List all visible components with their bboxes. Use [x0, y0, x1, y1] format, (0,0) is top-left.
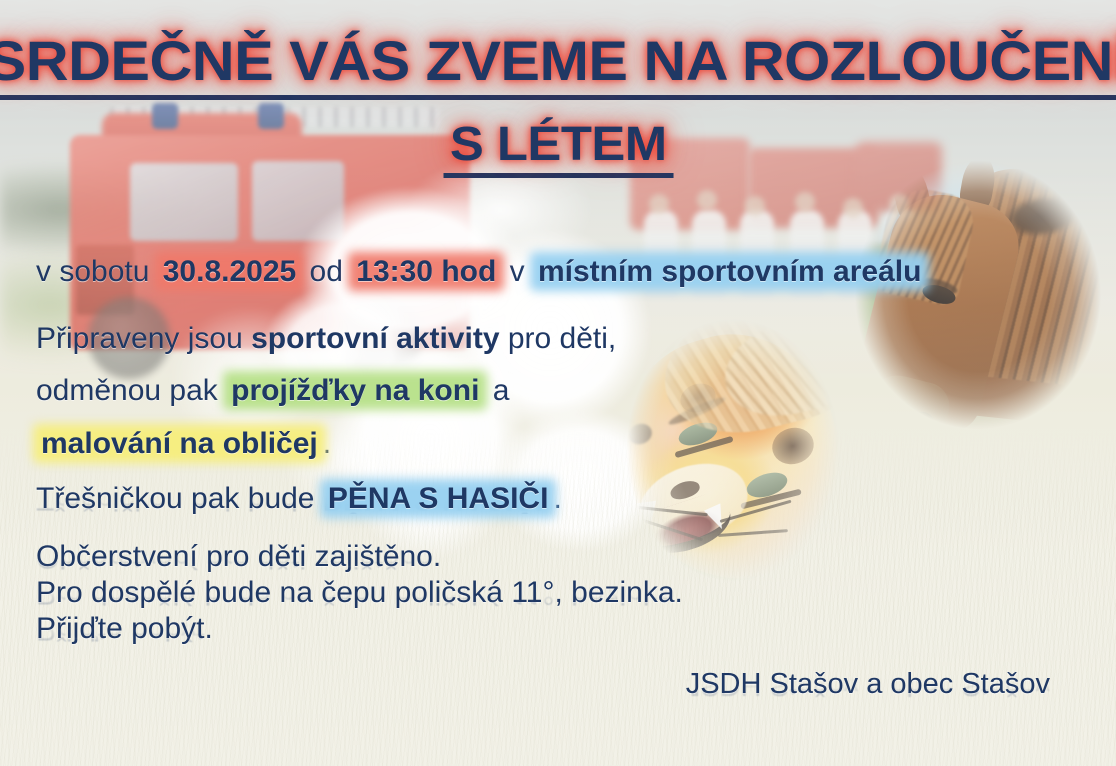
event-venue: místním sportovním areálu	[533, 253, 926, 290]
activity-face-painting: malování na obličej	[36, 425, 323, 462]
text-tresnickou: Třešničkou pak bude	[36, 482, 323, 515]
body-line-foam: Třešničkou pak bude PĚNA S HASIČI. Třešn…	[36, 484, 1080, 514]
poster-body: v sobotu 30.8.2025 od 13:30 hod v místní…	[36, 246, 1080, 650]
text-beer: Pro dospělé bude na čepu poličská 11°, b…	[36, 576, 683, 609]
headline-line-1: SRDEČNĚ VÁS ZVEME NA ROZLOUČENÍ	[0, 30, 1116, 100]
signature-text: JSDH Stašov a obec Stašov	[686, 668, 1050, 700]
text-refreshments: Občerstvení pro děti zajištěno.	[36, 540, 441, 573]
body-line-activities: Připraveny jsou sportovní aktivity pro d…	[36, 313, 626, 471]
poster-headline: SRDEČNĚ VÁS ZVEME NA ROZLOUČENÍ S LÉTEM	[0, 30, 1116, 178]
organizer-signature: JSDH Stašov a obec Stašov JSDH Stašov a …	[686, 668, 1050, 701]
event-time: 13:30 hod	[351, 253, 501, 290]
text-pripraveny: Připraveny jsou	[36, 322, 251, 355]
body-line-datetime-venue: v sobotu 30.8.2025 od 13:30 hod v místní…	[36, 246, 1080, 299]
text-od: od	[301, 255, 351, 288]
headline-line-2: S LÉTEM	[443, 118, 673, 179]
text-v-sobotu: v sobotu	[36, 255, 158, 288]
text-a: a	[484, 374, 509, 407]
activity-foam-party: PĚNA S HASIČI	[323, 480, 554, 517]
activity-horse-rides: projížďky na koni	[226, 372, 484, 409]
text-v: v	[501, 255, 533, 288]
event-date: 30.8.2025	[158, 253, 301, 290]
text-invitation: Přijďte pobýt.	[36, 612, 213, 645]
body-line-beer: Pro dospělé bude na čepu poličská 11°, b…	[36, 578, 1080, 608]
body-line-refreshments: Občerstvení pro děti zajištěno. Občerstv…	[36, 542, 1080, 572]
event-poster: SRDEČNĚ VÁS ZVEME NA ROZLOUČENÍ S LÉTEM …	[0, 0, 1116, 766]
activity-sports: sportovní aktivity	[251, 322, 499, 355]
body-line-invitation: Přijďte pobýt. Přijďte pobýt.	[36, 614, 1080, 644]
